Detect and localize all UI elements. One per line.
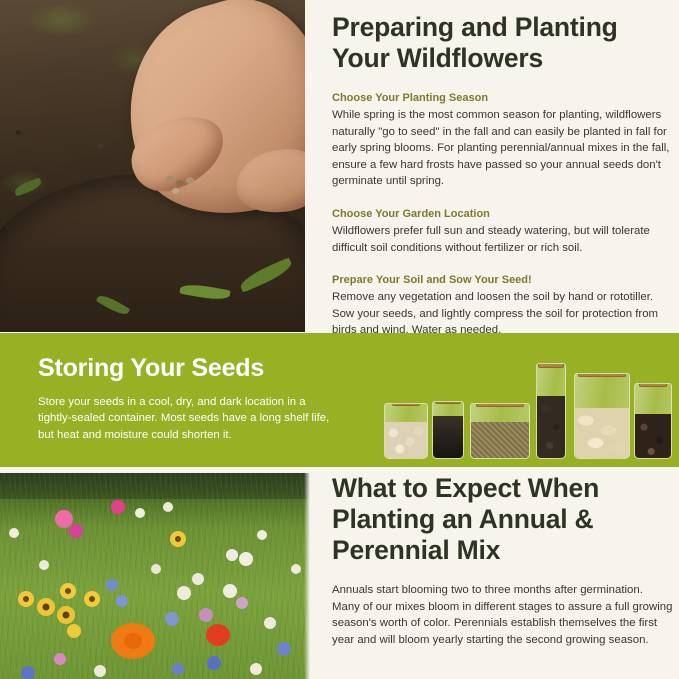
seed-jar [634, 383, 672, 459]
hand-sowing-seeds-image [0, 0, 305, 332]
seed [186, 177, 194, 184]
cork-lid [392, 403, 420, 406]
seed [166, 176, 175, 183]
seed [176, 180, 184, 186]
body-storing-your-seeds: Store your seeds in a cool, dry, and dar… [38, 394, 333, 443]
jar-contents [575, 408, 629, 458]
jar-contents [433, 416, 463, 458]
jar-contents [385, 422, 427, 458]
cork-lid [578, 373, 626, 377]
seed-jars-image [378, 341, 668, 465]
section-preparing-and-planting: Preparing and Planting Your Wildflowers … [0, 0, 679, 333]
jar-contents [537, 396, 565, 458]
heading-storing-your-seeds: Storing Your Seeds [38, 354, 333, 383]
subheading-prepare-soil: Prepare Your Soil and Sow Your Seed! [332, 273, 673, 288]
seed-jar [432, 401, 464, 459]
section-storing-your-seeds: Storing Your Seeds Store your seeds in a… [0, 333, 679, 467]
cork-lid [639, 383, 667, 387]
body-what-to-expect: Annuals start blooming two to three mont… [332, 582, 673, 648]
green-text-column: Storing Your Seeds Store your seeds in a… [38, 354, 333, 443]
wildflower-meadow-image [0, 473, 310, 679]
seed-jar [470, 403, 530, 459]
infographic-page: Preparing and Planting Your Wildflowers … [0, 0, 679, 679]
heading-what-to-expect: What to Expect When Planting an Annual &… [332, 473, 673, 566]
cork-lid [476, 403, 524, 407]
seed-jar [574, 373, 630, 459]
image-edge-fade [304, 473, 310, 679]
cork-lid [538, 363, 564, 368]
page-title-preparing: Preparing and Planting Your Wildflowers [332, 0, 673, 74]
seed [172, 188, 179, 194]
subheading-planting-season: Choose Your Planting Season [332, 91, 673, 106]
body-garden-location: Wildflowers prefer full sun and steady w… [332, 223, 673, 256]
seed-jar [536, 363, 566, 459]
jar-contents [635, 414, 671, 458]
subheading-garden-location: Choose Your Garden Location [332, 207, 673, 222]
jar-contents [471, 422, 529, 458]
seed-jar [384, 403, 428, 459]
bottom-text-column: What to Expect When Planting an Annual &… [332, 473, 679, 648]
top-text-column: Preparing and Planting Your Wildflowers … [332, 0, 679, 339]
meadow-flowers [0, 473, 310, 679]
cork-lid [435, 401, 461, 404]
body-planting-season: While spring is the most common season f… [332, 107, 673, 190]
section-what-to-expect: What to Expect When Planting an Annual &… [0, 467, 679, 679]
body-prepare-soil: Remove any vegetation and loosen the soi… [332, 289, 673, 339]
